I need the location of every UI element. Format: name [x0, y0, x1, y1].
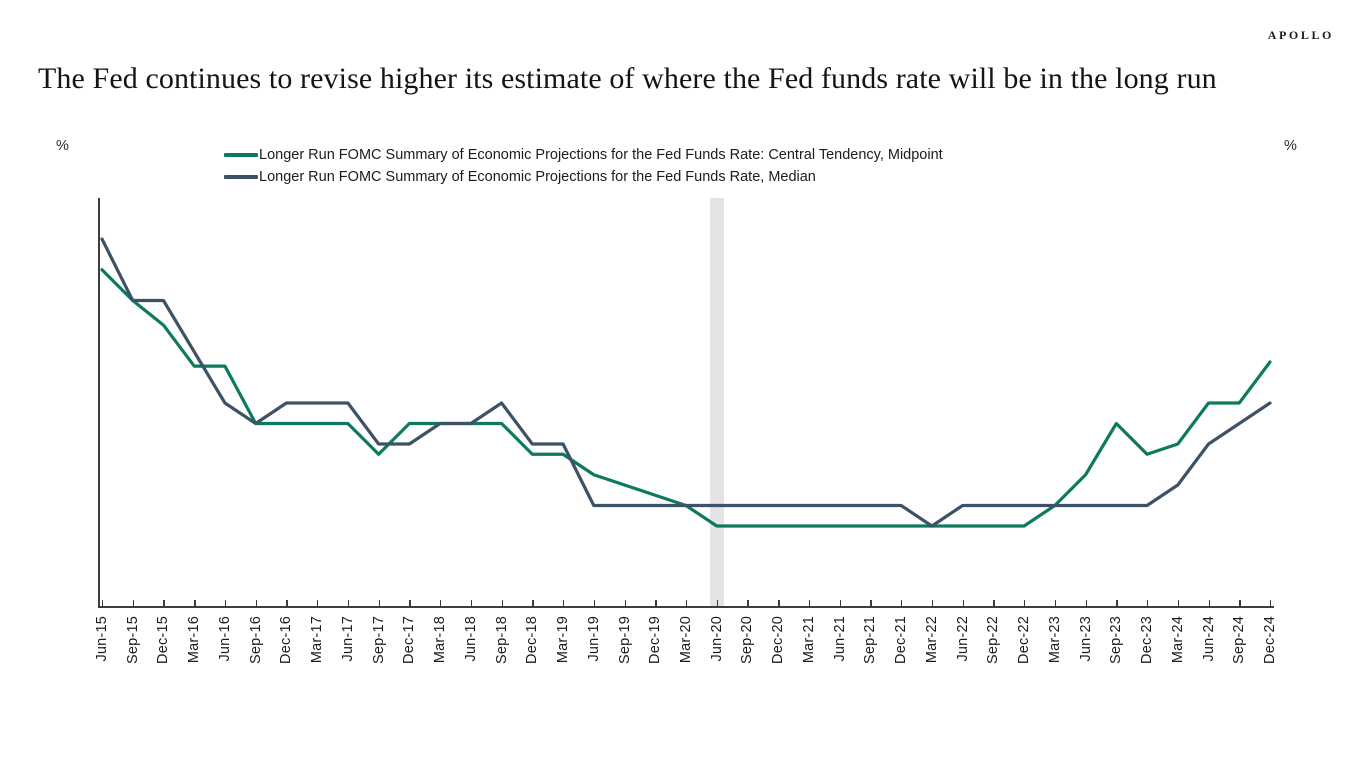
apollo-logo: APOLLO: [1268, 28, 1334, 43]
series-line: [102, 270, 1270, 526]
x-tick-label: Dec-19: [647, 616, 663, 664]
x-axis-tick: [870, 600, 871, 608]
x-tick-label: Sep-24: [1231, 616, 1247, 664]
x-tick-label: Jun-21: [832, 616, 848, 662]
x-tick-label: Jun-16: [217, 616, 233, 662]
x-tick-label: Dec-20: [770, 616, 786, 664]
x-axis-tick: [686, 600, 687, 608]
x-tick-label: Sep-18: [494, 616, 510, 664]
x-axis-tick: [1209, 600, 1210, 608]
x-tick-label: Dec-21: [893, 616, 909, 664]
x-axis-tick: [655, 600, 656, 608]
series-lines: [98, 198, 1274, 608]
x-axis-tick: [317, 600, 318, 608]
y-axis-unit-right: %: [1284, 138, 1297, 154]
x-axis-tick: [840, 600, 841, 608]
x-tick-label: Dec-16: [278, 616, 294, 664]
x-tick-label: Mar-22: [924, 616, 940, 663]
x-tick-label: Dec-18: [524, 616, 540, 664]
x-tick-label: Mar-24: [1170, 616, 1186, 663]
x-tick-label: Dec-23: [1139, 616, 1155, 664]
x-axis-tick: [563, 600, 564, 608]
x-axis-tick: [717, 600, 718, 608]
x-axis-tick: [225, 600, 226, 608]
x-axis-tick: [194, 600, 195, 608]
x-tick-label: Sep-17: [371, 616, 387, 664]
x-tick-label: Sep-20: [739, 616, 755, 664]
x-axis-tick: [993, 600, 994, 608]
x-axis-tick: [809, 600, 810, 608]
x-axis-tick: [932, 600, 933, 608]
x-tick-label: Mar-19: [555, 616, 571, 663]
x-axis-tick: [256, 600, 257, 608]
x-axis-tick: [286, 600, 287, 608]
legend-label-central-tendency: Longer Run FOMC Summary of Economic Proj…: [259, 147, 943, 163]
x-tick-label: Jun-23: [1078, 616, 1094, 662]
x-tick-label: Sep-21: [862, 616, 878, 664]
x-axis-tick: [1239, 600, 1240, 608]
x-tick-label: Sep-23: [1108, 616, 1124, 664]
x-axis-tick: [1086, 600, 1087, 608]
x-axis-tick: [102, 600, 103, 608]
legend-item-central-tendency: Longer Run FOMC Summary of Economic Proj…: [224, 144, 943, 166]
x-tick-label: Sep-22: [985, 616, 1001, 664]
x-axis-tick: [440, 600, 441, 608]
x-tick-label: Mar-18: [432, 616, 448, 663]
x-tick-label: Jun-18: [463, 616, 479, 662]
x-axis-tick: [1147, 600, 1148, 608]
x-axis-tick: [1024, 600, 1025, 608]
x-tick-label: Jun-22: [955, 616, 971, 662]
x-tick-label: Dec-15: [155, 616, 171, 664]
x-tick-label: Sep-19: [617, 616, 633, 664]
x-tick-label: Dec-22: [1016, 616, 1032, 664]
legend-swatch-median: [224, 175, 258, 179]
plot-area: 2.002.002.252.252.502.502.752.753.003.00…: [98, 198, 1274, 608]
x-tick-label: Jun-24: [1201, 616, 1217, 662]
x-tick-label: Mar-20: [678, 616, 694, 663]
x-tick-label: Jun-20: [709, 616, 725, 662]
legend-label-median: Longer Run FOMC Summary of Economic Proj…: [259, 169, 816, 185]
x-axis-tick: [1270, 600, 1271, 608]
x-tick-label: Dec-17: [401, 616, 417, 664]
legend-item-median: Longer Run FOMC Summary of Economic Proj…: [224, 166, 943, 188]
x-axis-tick: [594, 600, 595, 608]
x-axis-tick: [1178, 600, 1179, 608]
x-axis-tick: [778, 600, 779, 608]
chart-legend: Longer Run FOMC Summary of Economic Proj…: [224, 144, 943, 188]
x-tick-label: Sep-16: [248, 616, 264, 664]
y-axis-unit-left: %: [56, 138, 69, 154]
x-axis-tick: [901, 600, 902, 608]
x-tick-label: Mar-16: [186, 616, 202, 663]
x-tick-label: Mar-17: [309, 616, 325, 663]
x-axis-tick: [532, 600, 533, 608]
x-tick-label: Dec-24: [1262, 616, 1278, 664]
x-axis-tick: [963, 600, 964, 608]
x-axis-tick: [133, 600, 134, 608]
x-axis-tick: [1055, 600, 1056, 608]
x-tick-label: Sep-15: [125, 616, 141, 664]
x-axis-tick: [471, 600, 472, 608]
series-line: [102, 239, 1270, 526]
x-tick-label: Mar-21: [801, 616, 817, 663]
x-tick-label: Jun-19: [586, 616, 602, 662]
legend-swatch-central-tendency: [224, 153, 258, 157]
x-axis-tick: [502, 600, 503, 608]
x-axis-tick: [163, 600, 164, 608]
x-axis-tick: [625, 600, 626, 608]
x-axis-tick: [379, 600, 380, 608]
x-tick-label: Jun-17: [340, 616, 356, 662]
x-axis-tick: [1116, 600, 1117, 608]
x-axis-tick: [409, 600, 410, 608]
x-axis-tick: [348, 600, 349, 608]
chart-title: The Fed continues to revise higher its e…: [38, 62, 1338, 96]
x-axis-tick: [747, 600, 748, 608]
x-tick-label: Mar-23: [1047, 616, 1063, 663]
x-tick-label: Jun-15: [94, 616, 110, 662]
